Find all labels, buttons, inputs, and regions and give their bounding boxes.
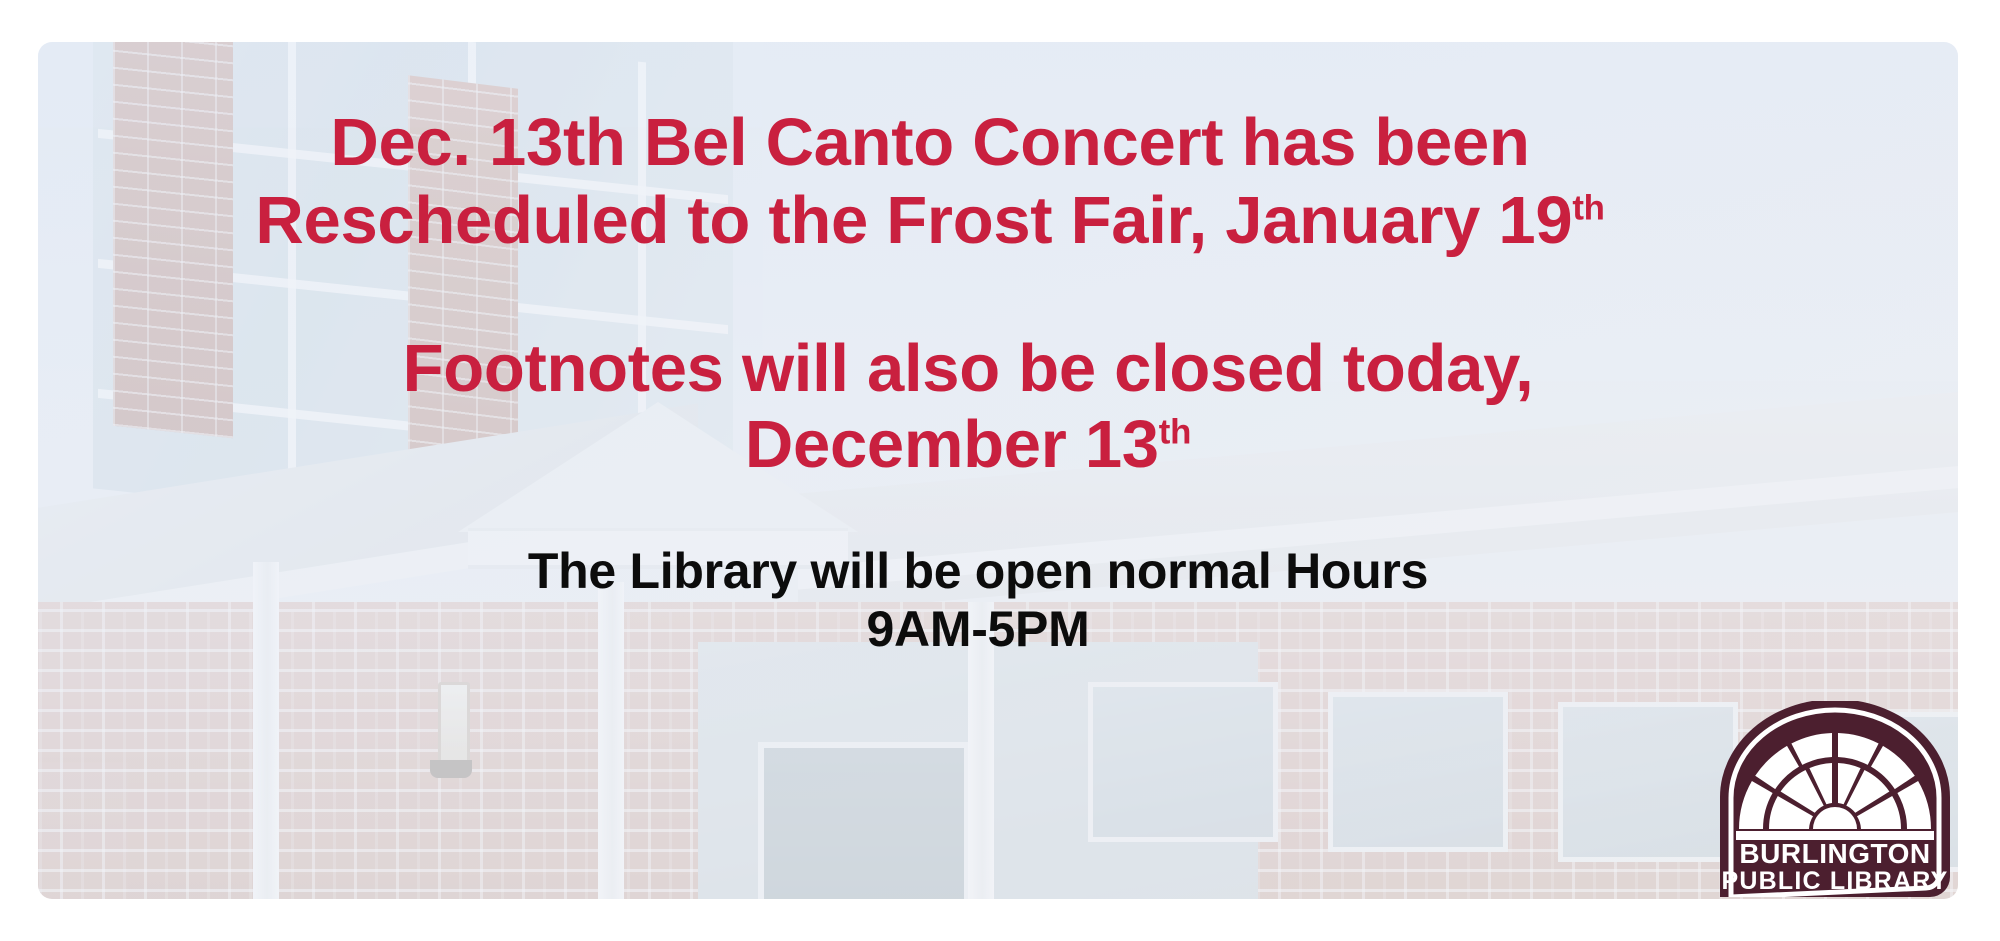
- announcement-line-2-text: Rescheduled to the Frost Fair, January 1…: [255, 183, 1572, 258]
- announcement-line-4-text: December 13: [745, 407, 1159, 482]
- hours-line-1: The Library will be open normal Hours: [38, 542, 1938, 600]
- hours-line-2: 9AM-5PM: [38, 600, 1938, 658]
- logo-text-line-1: BURLINGTON: [1739, 838, 1930, 869]
- announcement-banner: Dec. 13th Bel Canto Concert has been Res…: [38, 42, 1958, 899]
- announcement-content: Dec. 13th Bel Canto Concert has been Res…: [38, 42, 1958, 899]
- announcement-line-4: December 13th: [38, 406, 1928, 483]
- ordinal-suffix-th: th: [1159, 413, 1191, 452]
- announcement-line-2: Rescheduled to the Frost Fair, January 1…: [38, 182, 1890, 259]
- announcement-line-3: Footnotes will also be closed today,: [38, 330, 1928, 407]
- burlington-public-library-logo: BURLINGTON PUBLIC LIBRARY: [1704, 701, 1958, 897]
- ordinal-suffix-th: th: [1572, 189, 1604, 228]
- logo-text-line-2: PUBLIC LIBRARY: [1722, 867, 1949, 895]
- library-shield-icon: BURLINGTON PUBLIC LIBRARY: [1704, 701, 1958, 897]
- announcement-line-1: Dec. 13th Bel Canto Concert has been: [38, 104, 1890, 181]
